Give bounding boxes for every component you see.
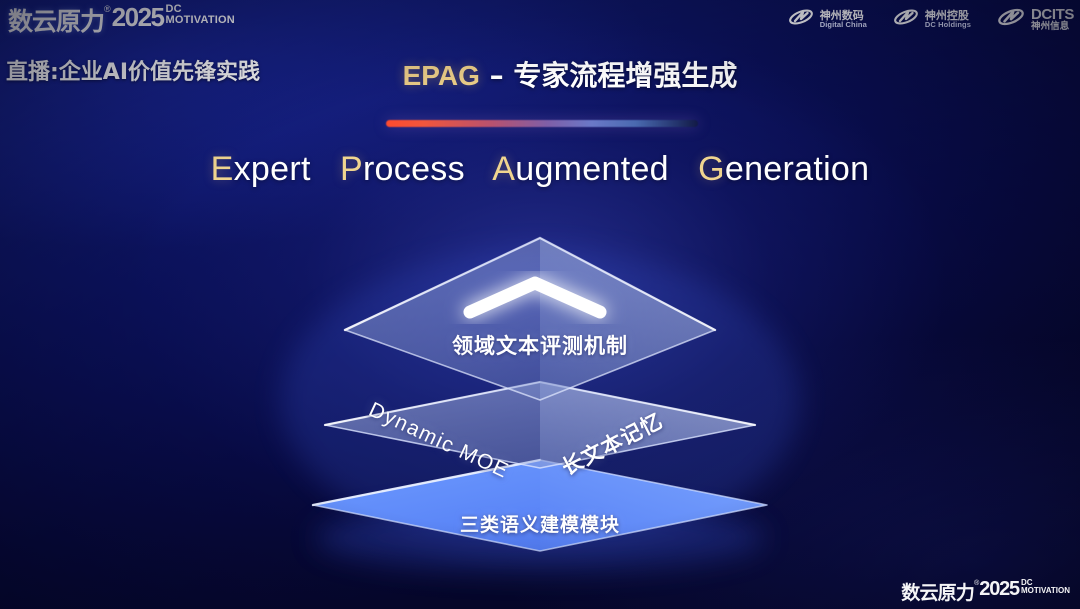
subtitle-word-generation: Generation — [698, 150, 869, 188]
page-title: EPAG – 专家流程增强生成 — [0, 54, 1080, 94]
subtitle-word-expert: Expert — [211, 150, 311, 188]
watermark-chinese: 数云原力 — [901, 578, 974, 605]
layer-top-label: 领域文本评测机制 — [0, 330, 1080, 360]
swirl-icon — [893, 7, 919, 32]
subtitle-cap: G — [698, 150, 725, 188]
watermark-year: 2025 — [979, 578, 1019, 601]
brand-name-en: DC Holdings — [925, 21, 971, 29]
space — [320, 150, 330, 188]
stack-glow — [280, 250, 800, 550]
gradient-divider — [386, 120, 698, 127]
title-acronym: EPAG — [403, 60, 480, 91]
brand-logo-dc-motivation: DC MOTIVATION — [166, 4, 235, 26]
title-chinese: 专家流程增强生成 — [513, 59, 737, 92]
subtitle-cap: A — [492, 150, 515, 188]
subtitle-word-process: Process — [340, 150, 465, 188]
subtitle-word-augmented: Augmented — [492, 150, 669, 188]
watermark-motivation: MOTIVATION — [1021, 587, 1070, 595]
layer-bottom-face — [313, 460, 767, 551]
layer-top-face-right — [540, 238, 715, 400]
layer-top-face — [345, 238, 715, 400]
subtitle-rest: eneration — [725, 150, 869, 188]
brand-name-en: 神州信息 — [1031, 22, 1074, 32]
brand-dcits: DCITS 神州信息 — [997, 6, 1074, 33]
subtitle-rest: ugmented — [515, 150, 669, 188]
brand-logo-year: 2025 — [112, 2, 164, 33]
subtitle-cap: E — [211, 150, 234, 188]
swirl-icon — [788, 7, 814, 32]
space — [475, 150, 485, 188]
layer-top[interactable] — [345, 238, 715, 400]
layer-middle-label-left: Dynamic MOE — [365, 398, 513, 484]
subtitle-expansion: Expert Process Augmented Generation — [0, 150, 1080, 189]
title-separator: – — [480, 59, 514, 92]
layer-top-outline — [345, 238, 715, 400]
brand-name-en: Digital China — [820, 21, 867, 29]
brand-dc-holdings: 神州控股 DC Holdings — [893, 7, 971, 32]
watermark-logo: 数云原力 ® 2025 DC MOTIVATION — [901, 578, 1070, 605]
swirl-icon — [997, 6, 1025, 33]
subtitle-rest: rocess — [363, 150, 465, 188]
layer-bottom-label: 三类语义建模模块 — [0, 510, 1080, 537]
brand-text: 神州控股 DC Holdings — [925, 10, 971, 29]
layer-middle-label-right: 长文本记忆 — [556, 405, 668, 482]
brand-shenzhou-digital: 神州数码 Digital China — [788, 7, 867, 32]
brand-text: DCITS 神州信息 — [1031, 7, 1074, 33]
subtitle-rest: xpert — [234, 150, 311, 188]
layer-top-edge-hi — [345, 238, 715, 330]
partner-brand-row: 神州数码 Digital China 神州控股 DC Holdings — [788, 6, 1074, 33]
brand-text: 神州数码 Digital China — [820, 10, 867, 29]
layer-bottom-outline — [313, 460, 767, 551]
slide-canvas: 数云原力 ® 2025 DC MOTIVATION 直播:企业AI价值先锋实践 … — [0, 0, 1080, 609]
brand-logo-datayun: 数云原力 ® 2025 DC MOTIVATION — [8, 2, 235, 38]
brand-logo-chinese: 数云原力 — [8, 2, 104, 38]
registered-mark-icon: ® — [104, 4, 111, 14]
subtitle-cap: P — [340, 150, 363, 188]
brand-logo-motivation: MOTIVATION — [166, 15, 235, 26]
space — [679, 150, 689, 188]
chevron-up-icon — [470, 283, 600, 312]
watermark-dc-motivation: DC MOTIVATION — [1021, 579, 1070, 595]
